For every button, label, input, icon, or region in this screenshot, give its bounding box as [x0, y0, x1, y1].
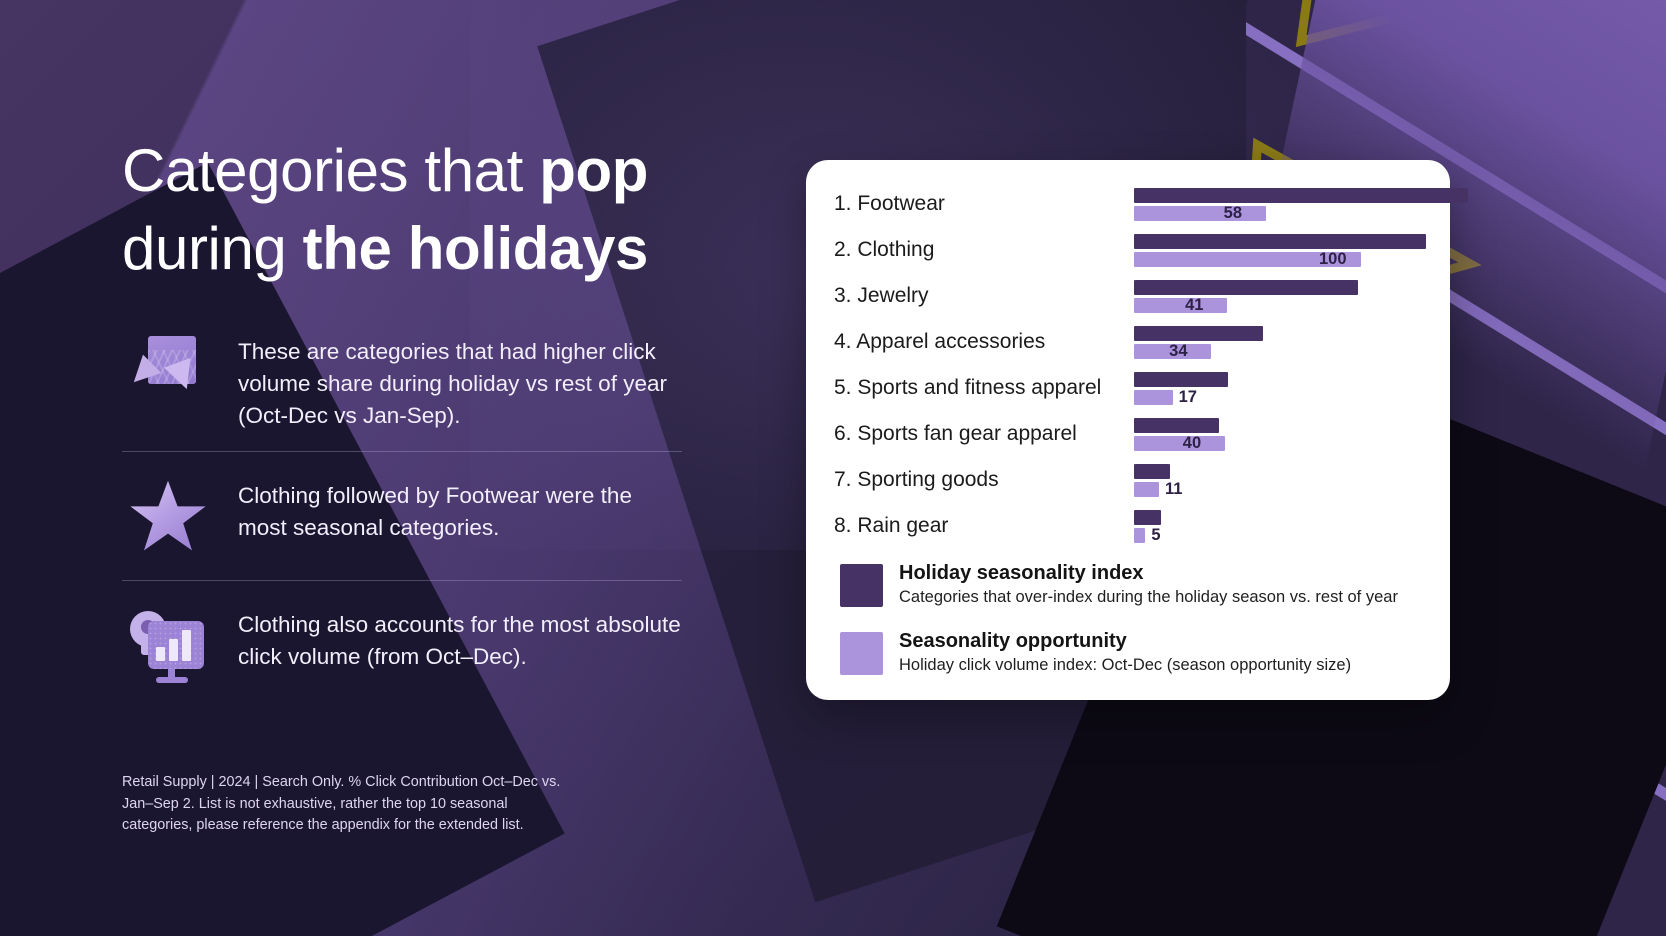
- star-glyph-icon: [128, 476, 208, 556]
- headline-line2-bold: the holidays: [303, 215, 648, 282]
- page-title: Categories that pop during the holidays: [122, 132, 742, 288]
- bar-group: 5: [1134, 510, 1432, 546]
- bar-holiday-seasonality-index: [1134, 280, 1358, 295]
- legend-subtitle: Categories that over-index during the ho…: [899, 587, 1398, 608]
- chart-category-label: 4. Apparel accessories: [834, 322, 1045, 362]
- star-icon: [122, 476, 214, 562]
- legend-swatch: [840, 564, 883, 607]
- bar-value-label: 5: [1151, 527, 1160, 544]
- chart-category-label: 8. Rain gear: [834, 506, 948, 546]
- chart-row: 4. Apparel accessories34: [834, 322, 1432, 362]
- bar-holiday-seasonality-index: [1134, 188, 1468, 203]
- bar-value-label: 17: [1179, 389, 1197, 406]
- chart-category-label: 6. Sports fan gear apparel: [834, 414, 1077, 454]
- bullet-text: Clothing also accounts for the most abso…: [238, 605, 682, 673]
- bar-value-label: 40: [1183, 435, 1201, 452]
- dashboard-lightbulb-icon: [122, 605, 214, 691]
- chart-category-label: 1. Footwear: [834, 184, 945, 224]
- insight-bullet-list: These are categories that had higher cli…: [122, 318, 682, 709]
- bar-seasonality-opportunity: [1134, 528, 1145, 543]
- bar-group: 11: [1134, 464, 1432, 500]
- list-item: These are categories that had higher cli…: [122, 318, 682, 451]
- legend-title: Seasonality opportunity: [899, 630, 1351, 654]
- bar-holiday-seasonality-index: [1134, 234, 1426, 249]
- bar-holiday-seasonality-index: [1134, 464, 1170, 479]
- chart-category-label: 3. Jewelry: [834, 276, 929, 316]
- bar-seasonality-opportunity: [1134, 298, 1227, 313]
- bar-chart: 1. Footwear582. Clothing1003. Jewelry414…: [806, 160, 1450, 520]
- bar-group: 17: [1134, 372, 1432, 408]
- bullet-text: Clothing followed by Footwear were the m…: [238, 476, 682, 544]
- chart-legend: Holiday seasonality indexCategories that…: [840, 562, 1430, 698]
- bar-value-label: 11: [1165, 481, 1182, 498]
- bar-value-label: 41: [1185, 297, 1203, 314]
- chart-card: 1. Footwear582. Clothing1003. Jewelry414…: [806, 160, 1450, 700]
- bar-group: 40: [1134, 418, 1432, 454]
- bar-value-label: 58: [1224, 205, 1242, 222]
- bar-holiday-seasonality-index: [1134, 326, 1263, 341]
- bar-seasonality-opportunity: [1134, 436, 1225, 451]
- chart-row: 3. Jewelry41: [834, 276, 1432, 316]
- list-item: Clothing also accounts for the most abso…: [122, 580, 682, 709]
- legend-subtitle: Holiday click volume index: Oct-Dec (sea…: [899, 655, 1351, 676]
- headline-line1-light: Categories that: [122, 137, 539, 204]
- infographic-stage: Categories that pop during the holidays …: [0, 0, 1666, 936]
- bar-seasonality-opportunity: [1134, 206, 1266, 221]
- chart-category-label: 2. Clothing: [834, 230, 934, 270]
- chart-row: 5. Sports and fitness apparel17: [834, 368, 1432, 408]
- bar-group: 58: [1134, 188, 1432, 224]
- bullet-text: These are categories that had higher cli…: [238, 332, 682, 433]
- bar-seasonality-opportunity: [1134, 390, 1173, 405]
- legend-item: Seasonality opportunityHoliday click vol…: [840, 630, 1430, 676]
- bar-group: 41: [1134, 280, 1432, 316]
- chart-row: 2. Clothing100: [834, 230, 1432, 270]
- headline-line1-bold: pop: [539, 137, 648, 204]
- bar-seasonality-opportunity: [1134, 482, 1159, 497]
- chart-category-label: 7. Sporting goods: [834, 460, 999, 500]
- chart-row: 7. Sporting goods11: [834, 460, 1432, 500]
- left-column: Categories that pop during the holidays …: [0, 0, 760, 936]
- list-item: Clothing followed by Footwear were the m…: [122, 451, 682, 580]
- legend-item: Holiday seasonality indexCategories that…: [840, 562, 1430, 608]
- bar-holiday-seasonality-index: [1134, 418, 1219, 433]
- legend-swatch: [840, 632, 883, 675]
- bar-value-label: 34: [1169, 343, 1187, 360]
- chart-category-label: 5. Sports and fitness apparel: [834, 368, 1101, 408]
- footnote: Retail Supply | 2024 | Search Only. % Cl…: [122, 772, 572, 837]
- click-cursor-card-icon: [122, 332, 214, 418]
- chart-row: 6. Sports fan gear apparel40: [834, 414, 1432, 454]
- chart-row: 8. Rain gear5: [834, 506, 1432, 546]
- bar-holiday-seasonality-index: [1134, 510, 1161, 525]
- chart-row: 1. Footwear58: [834, 184, 1432, 224]
- legend-title: Holiday seasonality index: [899, 562, 1398, 586]
- headline-line2-light: during: [122, 215, 303, 282]
- bar-value-label: 100: [1319, 251, 1347, 268]
- bar-group: 100: [1134, 234, 1432, 270]
- bar-group: 34: [1134, 326, 1432, 362]
- bar-holiday-seasonality-index: [1134, 372, 1228, 387]
